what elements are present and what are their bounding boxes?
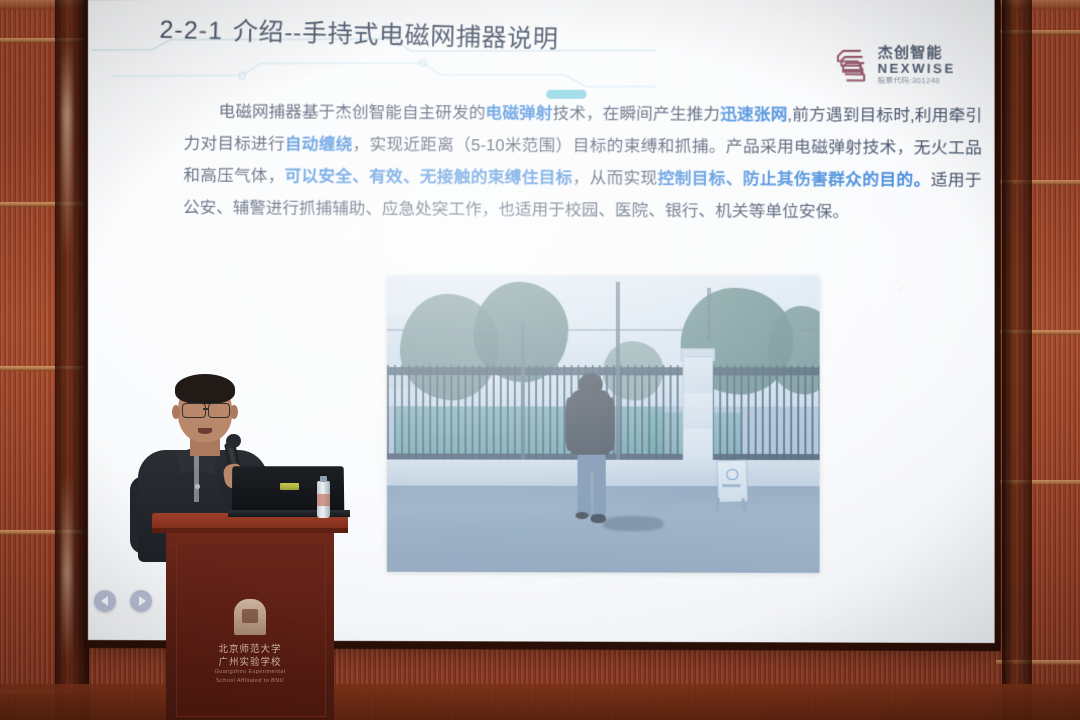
body-seg: ，从而实现: [572, 169, 657, 188]
nexwise-logo-icon: [833, 46, 870, 84]
lectern-podium: 北京师范大学 广州实验学校 Guangzhou Experimental Sch…: [152, 513, 348, 720]
slide-title: 2-2-1介绍--手持式电磁网捕器说明: [159, 10, 559, 56]
previous-slide-button[interactable]: [94, 590, 116, 612]
speaker-mouth: [198, 428, 212, 434]
logo-text-block: 杰创智能 NEXWISE 股票代码:301248: [878, 46, 956, 86]
body-seg-highlight: 控制目标、防止其伤害群众的目的。: [658, 170, 931, 190]
slide-title-text: 介绍--手持式电磁网捕器说明: [233, 18, 559, 54]
logo-chinese-name: 杰创智能: [878, 46, 956, 62]
body-seg-highlight: 自动缠绕: [285, 135, 353, 153]
chevron-left-icon: [101, 596, 108, 606]
bottle-label: [317, 494, 330, 506]
podium-school-name-cn-line2: 广州实验学校: [152, 654, 348, 668]
speaker-ear: [230, 405, 238, 419]
next-slide-button[interactable]: [130, 590, 152, 612]
eyeglasses-icon: [182, 403, 206, 418]
eyeglasses-icon: [208, 403, 230, 418]
podium-school-name-en-line2: School Affiliated to BNU: [152, 678, 348, 684]
company-logo: 杰创智能 NEXWISE 股票代码:301248: [833, 45, 956, 85]
school-emblem-inner: [242, 609, 258, 623]
slide-photo: [387, 276, 820, 573]
body-seg-highlight: 迅速张网: [720, 106, 787, 125]
water-bottle: [317, 476, 330, 518]
laptop-sticker: [280, 483, 299, 490]
pillar-gloss: [62, 40, 72, 660]
body-seg-highlight: 电磁弹射: [485, 104, 552, 122]
slide-navigation[interactable]: [94, 590, 152, 612]
chevron-right-icon: [139, 596, 146, 606]
podium-school-name-cn-line1: 北京师范大学: [152, 641, 348, 655]
wall-pillar-right: [1002, 0, 1032, 720]
speaker-shirt-placket: [194, 454, 199, 502]
bottle-cap: [320, 476, 327, 482]
presentation-photo-scene: 2-2-1介绍--手持式电磁网捕器说明 杰创智能 NEXWISE 股票代码:30…: [0, 0, 1080, 720]
body-seg-highlight: 可以安全、有效、无接触的束缚住目标: [285, 167, 573, 187]
mouse-cursor-icon: [895, 280, 905, 295]
speaker-ear: [172, 405, 180, 419]
slide-body-text: 电磁网捕器基于杰创智能自主研发的电磁弹射技术，在瞬间产生推力迅速张网,前方遇到目…: [183, 96, 982, 230]
slide-title-number: 2-2-1: [159, 16, 223, 46]
body-seg: 技术，在瞬间产生推力: [552, 105, 720, 124]
logo-english-name: NEXWISE: [878, 61, 956, 75]
photo-projector-tint: [387, 276, 820, 573]
laptop-base: [228, 510, 350, 517]
podium-school-name-en-line1: Guangzhou Experimental: [152, 669, 348, 675]
body-seg: 电磁网捕器基于杰创智能自主研发的: [219, 103, 486, 123]
speaker-hair: [175, 374, 235, 404]
eyeglasses-bridge: [203, 408, 209, 410]
speaker-shirt-button: [195, 484, 200, 489]
logo-stock-code: 股票代码:301248: [878, 77, 956, 85]
